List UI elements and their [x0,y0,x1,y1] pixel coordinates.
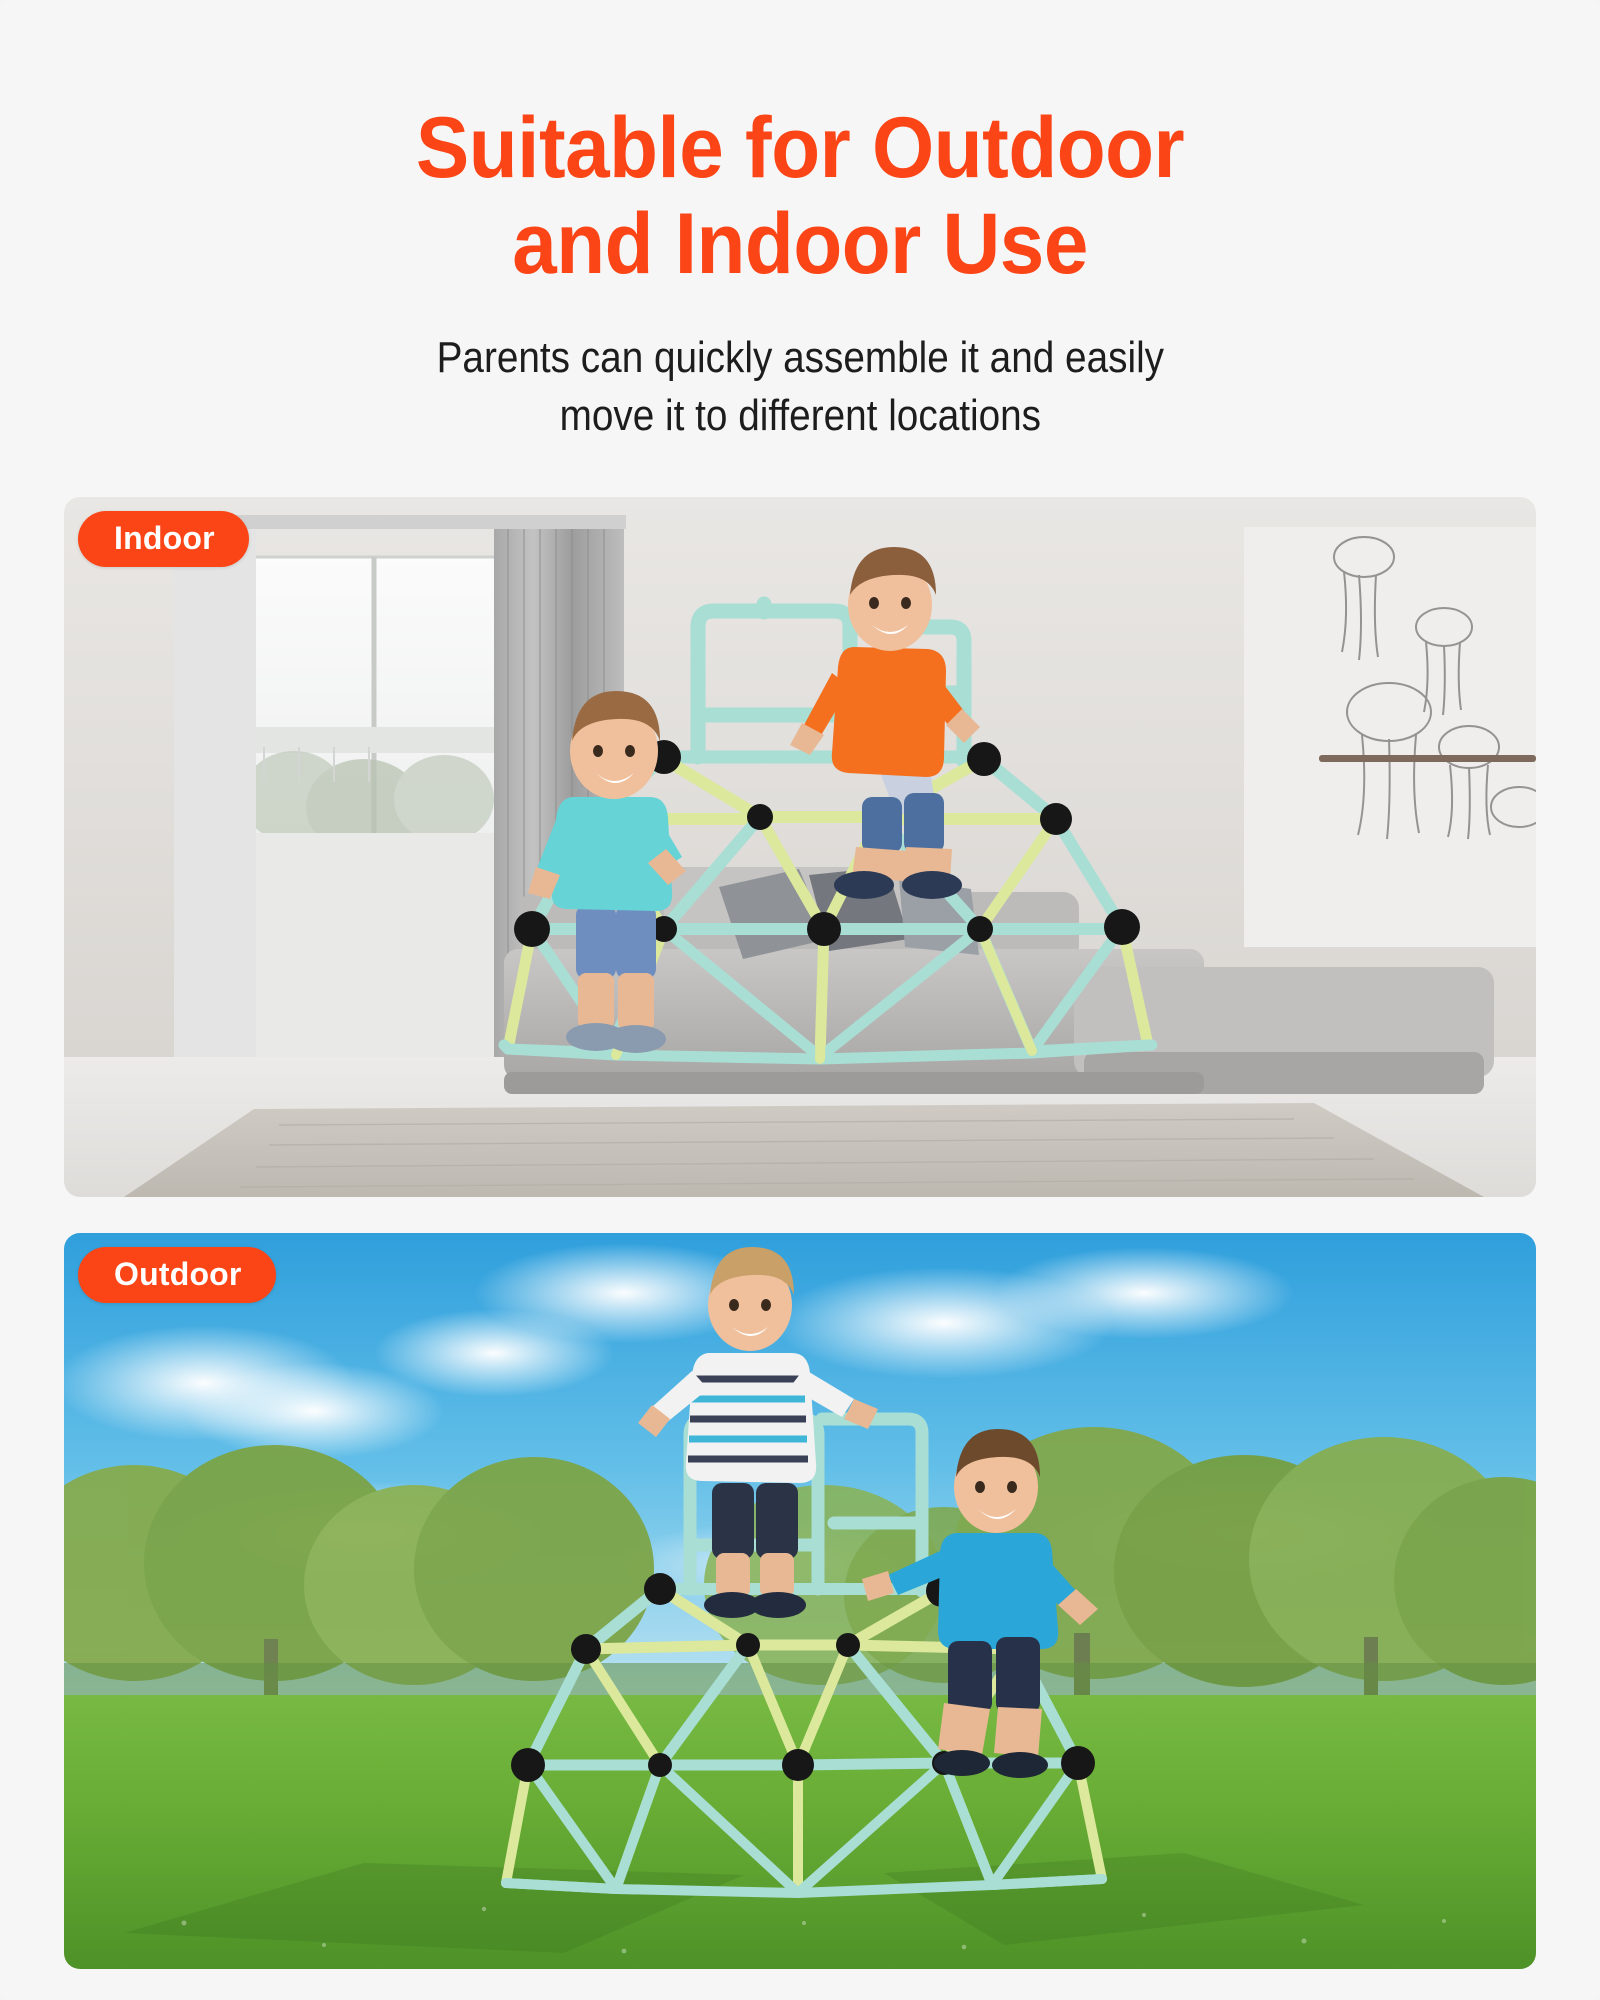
outdoor-photo [64,1233,1536,1969]
headline-line-1: Suitable for Outdoor [416,100,1184,196]
subtitle-line-1: Parents can quickly assemble it and easi… [436,333,1163,382]
indoor-photo-card: Indoor [64,497,1536,1197]
outdoor-photo-card: Outdoor [64,1233,1536,1969]
indoor-badge-label: Indoor [114,520,215,557]
indoor-photo [64,497,1536,1197]
outdoor-badge-label: Outdoor [114,1256,242,1293]
page-subtitle: Parents can quickly assemble it and easi… [436,329,1163,445]
page-title: Suitable for Outdoor and Indoor Use [416,100,1184,293]
outdoor-badge: Outdoor [78,1247,276,1303]
headline-line-2: and Indoor Use [416,196,1184,292]
indoor-badge: Indoor [78,511,249,567]
product-feature-page: Suitable for Outdoor and Indoor Use Pare… [0,0,1600,2000]
subtitle-line-2: move it to different locations [436,387,1163,445]
